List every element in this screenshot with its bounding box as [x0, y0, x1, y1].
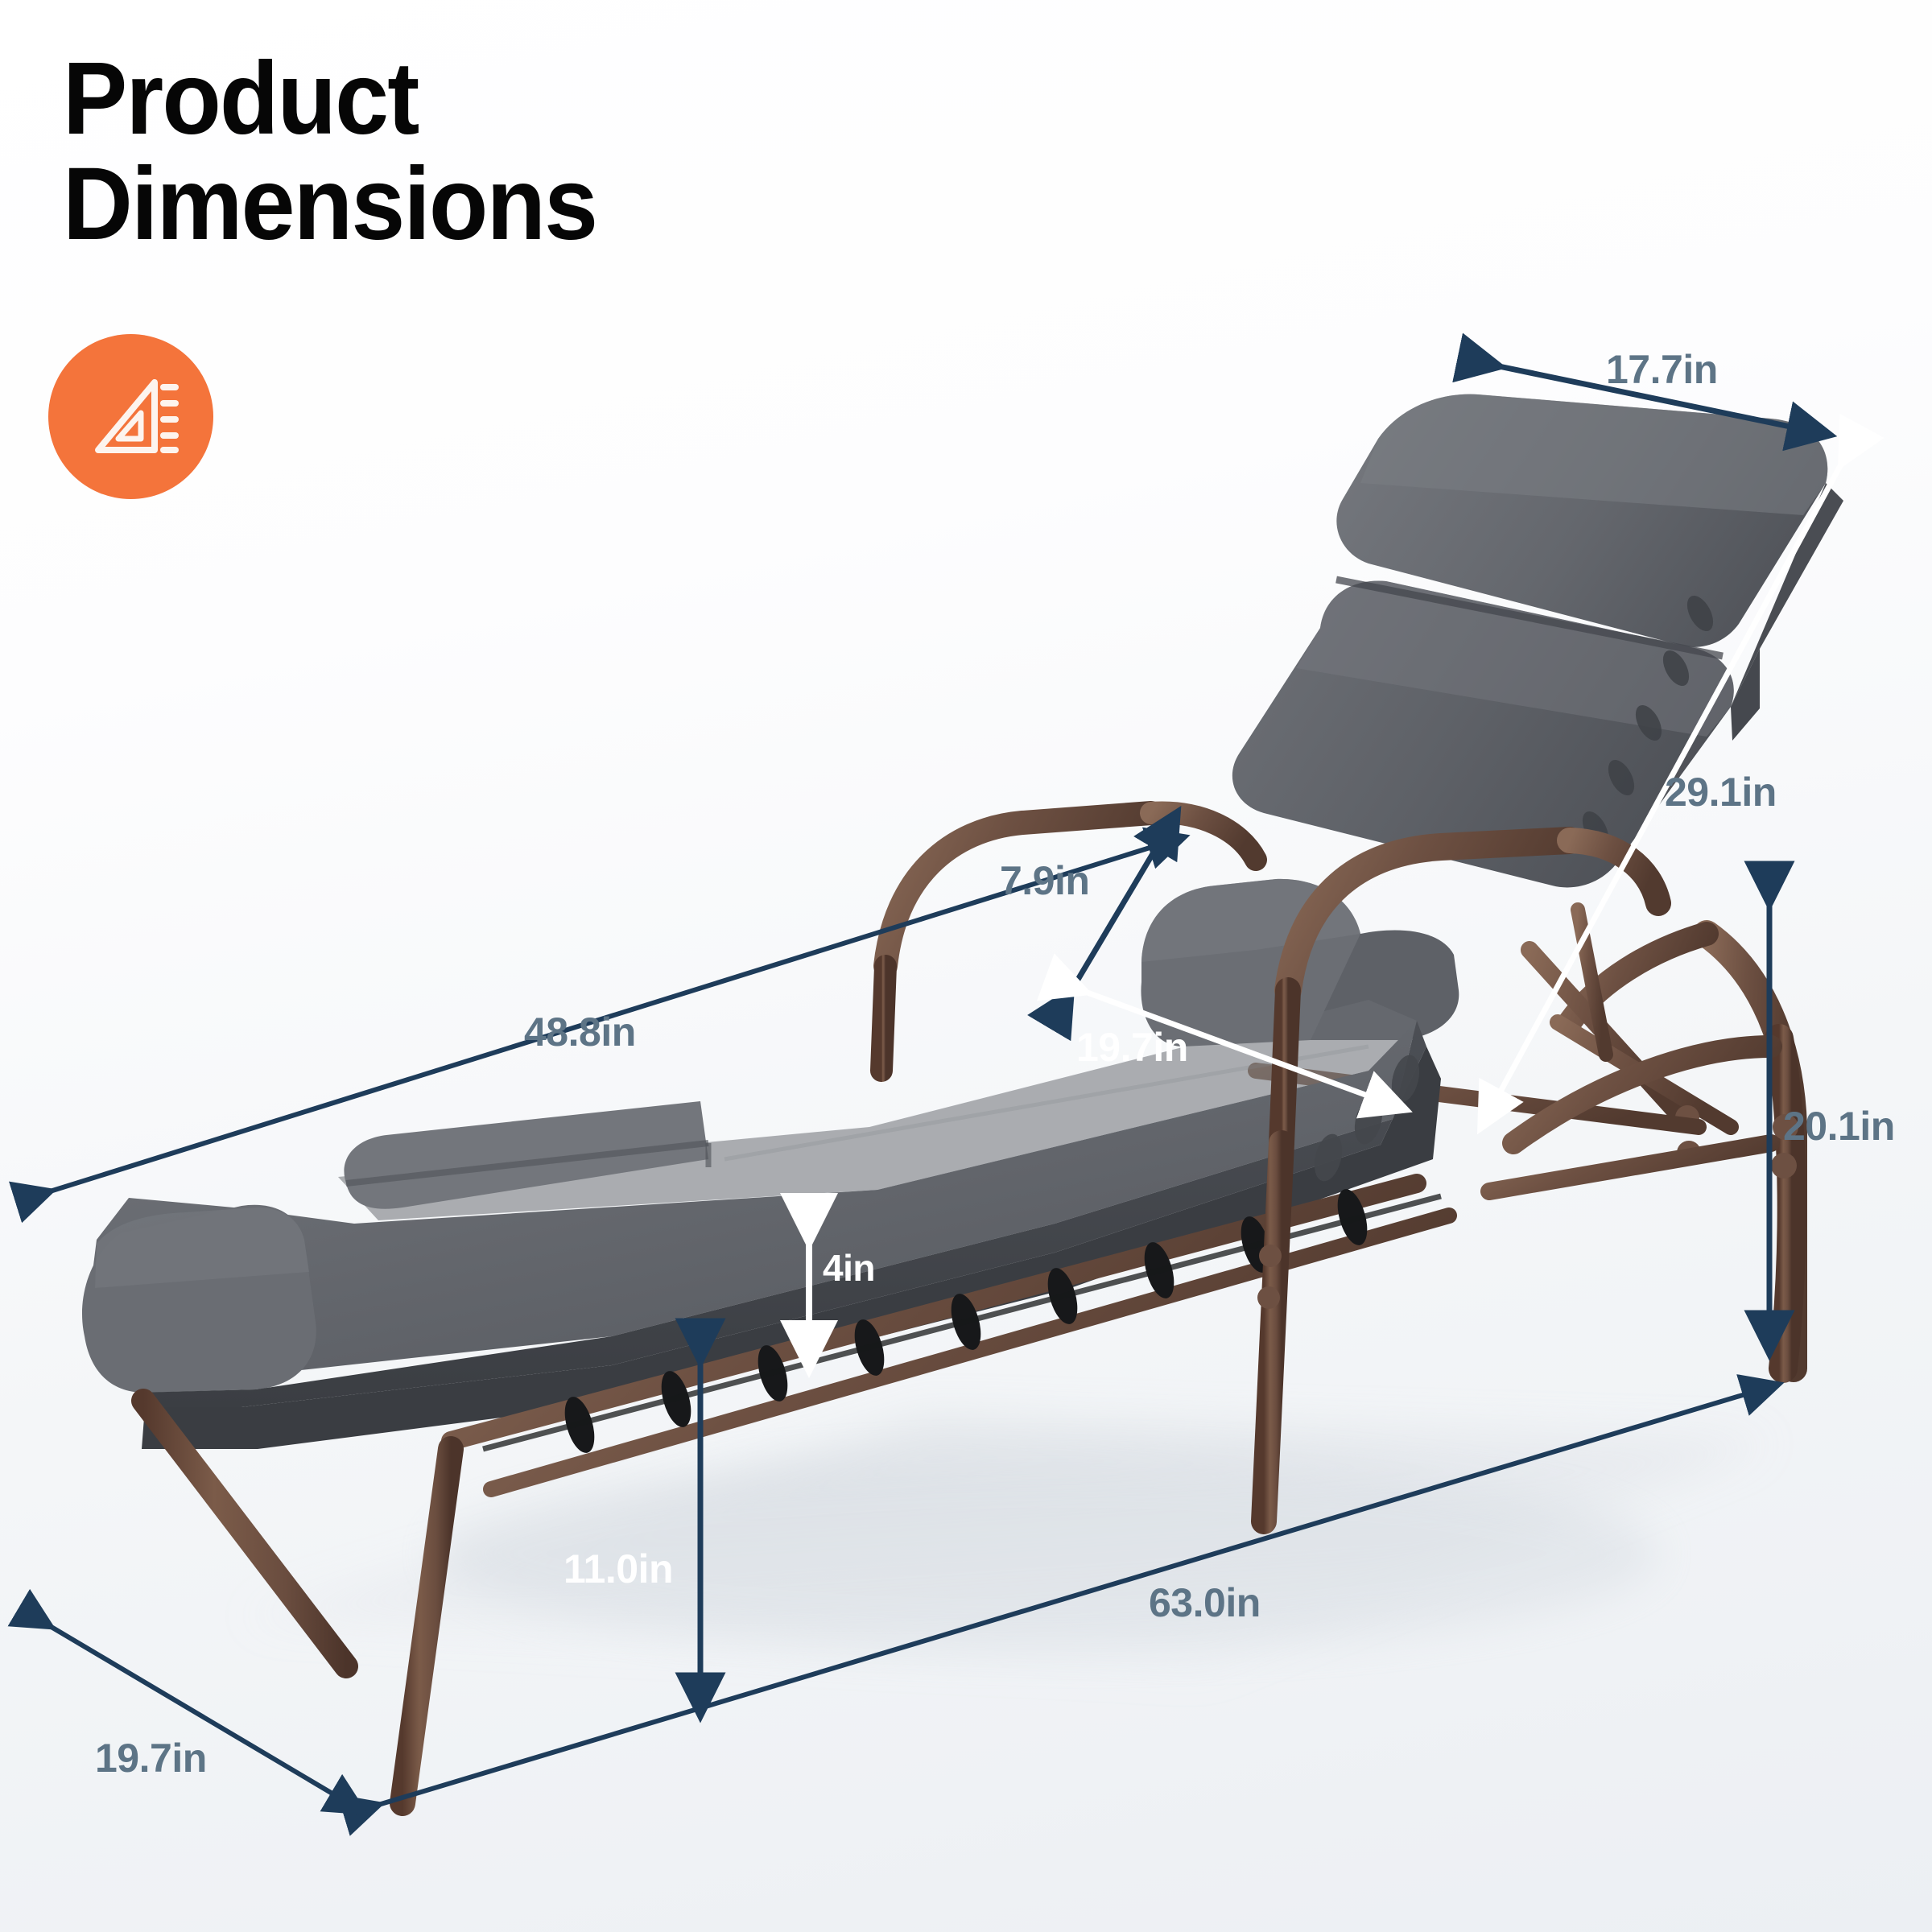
- chair-frame-rear: [1256, 910, 1794, 1368]
- armrest-left: [881, 813, 1256, 1071]
- ruler-triangle-icon-badge: [48, 334, 213, 499]
- dimension-label-backrest-width: 17.7in: [1606, 346, 1718, 393]
- dimension-line-backrest-length: [1481, 463, 1842, 1127]
- armrest-right: [1282, 840, 1658, 1143]
- infographic-canvas: Product Dimensions: [0, 0, 1932, 1932]
- dimension-label-overall-length: 63.0in: [1149, 1579, 1261, 1626]
- dimension-line-overall-depth: [50, 1626, 362, 1811]
- dimension-label-leg-height: 11.0in: [563, 1546, 673, 1592]
- seat-cushion: [82, 1000, 1441, 1449]
- dimension-label-seat-height: 20.1in: [1783, 1103, 1895, 1150]
- dimension-label-cushion-thickness: 4in: [823, 1246, 875, 1290]
- product-illustration: [0, 0, 1932, 1932]
- dimension-label-overall-depth: 19.7in: [95, 1735, 207, 1781]
- dimension-lines: [50, 366, 1842, 1811]
- floor-shadow: [242, 1417, 1771, 1674]
- lumbar-pillow: [1141, 879, 1459, 1046]
- page-title: Product Dimensions: [63, 47, 895, 257]
- ruler-triangle-icon: [84, 369, 179, 464]
- dimension-label-armrest-height: 7.9in: [1000, 857, 1089, 904]
- chair-frame-rails: [451, 1183, 1449, 1489]
- dimension-label-backrest-length: 29.1in: [1665, 769, 1777, 815]
- chair-legs: [143, 1038, 1798, 1803]
- dimension-label-seat-depth: 19.7in: [1076, 1024, 1188, 1071]
- dimension-line-overall-length: [378, 1385, 1777, 1805]
- title-block: Product Dimensions: [63, 47, 948, 257]
- dimension-label-cushion-length: 48.8in: [524, 1009, 636, 1055]
